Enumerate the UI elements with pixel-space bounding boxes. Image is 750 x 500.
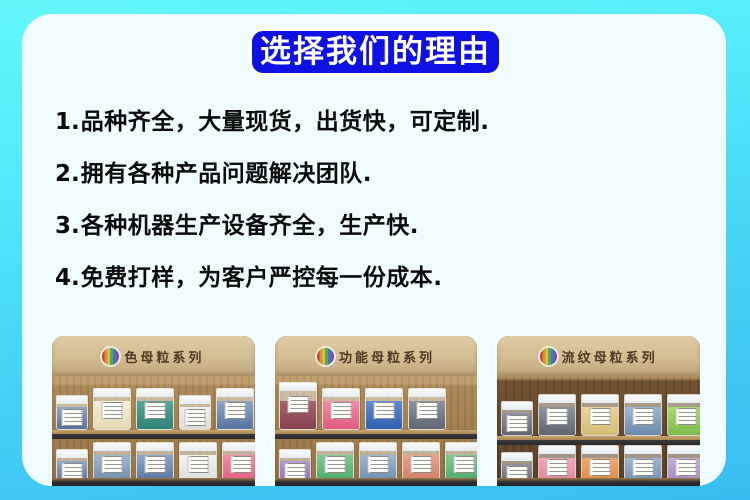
title-banner: 选择我们的理由 <box>249 28 502 76</box>
box-lid <box>316 443 354 451</box>
shelf-sign: 流纹母粒系列 <box>497 336 700 376</box>
sample-box <box>322 388 360 430</box>
sample-box <box>56 395 88 430</box>
box-lid <box>445 443 478 451</box>
box-lid <box>279 450 311 458</box>
product-photo-3: 流纹母粒系列 <box>497 336 700 486</box>
list-item-number: 1. <box>55 109 80 135</box>
shelf-sign-label: 流纹母粒系列 <box>562 347 658 366</box>
box-lid <box>56 450 88 458</box>
box-lid <box>408 389 446 397</box>
shelf-sign-label: 功能母粒系列 <box>339 347 435 366</box>
box-label <box>416 402 437 419</box>
rainbow-stripe-logo-icon <box>317 348 334 365</box>
box-lid <box>581 446 619 454</box>
box-lid <box>216 389 254 397</box>
shelf-board <box>497 436 700 445</box>
box-label <box>633 408 654 425</box>
box-lid <box>667 395 700 403</box>
box-lid <box>56 396 88 404</box>
list-item-text: 品种齐全，大量现货，出货快，可定制. <box>81 102 490 136</box>
box-lid <box>365 389 403 397</box>
shelf-sign: 功能母粒系列 <box>275 336 478 376</box>
box-label <box>676 408 697 425</box>
sample-box <box>667 394 700 436</box>
box-lid <box>93 389 131 397</box>
box-lid <box>93 443 131 451</box>
box-lid <box>624 395 662 403</box>
shelf-sign-label: 色母粒系列 <box>124 347 204 366</box>
box-label <box>102 456 123 473</box>
list-item-text: 各种机器生产设备齐全，生产快. <box>81 206 419 240</box>
box-label <box>324 456 345 473</box>
box-label <box>225 402 246 419</box>
box-label <box>547 459 568 476</box>
sample-box <box>179 395 211 430</box>
box-label <box>590 408 611 425</box>
list-item-number: 3. <box>55 213 80 239</box>
box-lid <box>136 443 174 451</box>
box-label <box>102 402 123 419</box>
sample-box <box>581 394 619 436</box>
box-lid <box>179 396 211 404</box>
box-lid <box>581 395 619 403</box>
product-photo-1: 色母粒系列 <box>52 336 255 486</box>
sample-box <box>538 394 576 436</box>
box-label <box>633 459 654 476</box>
product-photo-2: 功能母粒系列 <box>275 336 478 486</box>
box-label <box>590 459 611 476</box>
reasons-list: 1. 品种齐全，大量现货，出货快，可定制. 2. 拥有各种产品问题解决团队. 3… <box>55 102 695 310</box>
box-label <box>231 456 252 473</box>
shelf-board <box>275 478 478 486</box>
sample-box-row-top <box>501 382 696 436</box>
box-label <box>185 409 206 426</box>
sample-box <box>624 394 662 436</box>
box-lid <box>136 389 174 397</box>
list-item: 1. 品种齐全，大量现货，出货快，可定制. <box>55 102 695 154</box>
box-lid <box>538 395 576 403</box>
sample-box <box>501 401 533 436</box>
box-lid <box>359 443 397 451</box>
sample-box <box>365 388 403 430</box>
shelf-board <box>275 430 478 439</box>
sample-box <box>279 382 317 430</box>
box-lid <box>322 389 360 397</box>
list-item-text: 免费打样，为客户严控每一份成本. <box>81 258 443 292</box>
box-label <box>410 456 431 473</box>
box-lid <box>624 446 662 454</box>
box-label <box>373 402 394 419</box>
box-label <box>547 408 568 425</box>
box-label <box>367 456 388 473</box>
sample-box <box>408 388 446 430</box>
box-label <box>287 396 308 413</box>
list-item-number: 2. <box>55 161 80 187</box>
rainbow-stripe-logo-icon <box>102 348 119 365</box>
rainbow-stripe-logo-icon <box>540 348 557 365</box>
sample-box <box>136 388 174 430</box>
box-lid <box>279 383 317 391</box>
box-lid <box>402 443 440 451</box>
list-item: 3. 各种机器生产设备齐全，生产快. <box>55 206 695 258</box>
product-photo-strip: 色母粒系列 <box>52 336 700 486</box>
list-item-number: 4. <box>55 265 80 291</box>
page-title: 选择我们的理由 <box>260 37 491 68</box>
sample-box-row-top <box>279 378 474 430</box>
box-label <box>145 456 166 473</box>
box-lid <box>179 443 217 451</box>
shelf-sign: 色母粒系列 <box>52 336 255 376</box>
box-label <box>145 402 166 419</box>
shelf-board <box>52 478 255 486</box>
sample-box <box>216 388 254 430</box>
poster-canvas: 选择我们的理由 1. 品种齐全，大量现货，出货快，可定制. 2. 拥有各种产品问… <box>0 0 750 500</box>
box-label <box>676 459 697 476</box>
box-label <box>330 402 351 419</box>
box-lid <box>222 443 255 451</box>
shelf-board <box>52 430 255 439</box>
box-lid <box>501 402 533 410</box>
sample-box-row-top <box>56 378 251 430</box>
box-lid <box>538 446 576 454</box>
list-item: 4. 免费打样，为客户严控每一份成本. <box>55 258 695 310</box>
list-item-text: 拥有各种产品问题解决团队. <box>81 154 372 188</box>
shelf-board <box>497 478 700 486</box>
box-label <box>188 456 209 473</box>
list-item: 2. 拥有各种产品问题解决团队. <box>55 154 695 206</box>
box-label <box>507 415 528 432</box>
box-lid <box>501 453 533 461</box>
box-label <box>453 456 474 473</box>
box-label <box>62 409 83 426</box>
content-card: 选择我们的理由 1. 品种齐全，大量现货，出货快，可定制. 2. 拥有各种产品问… <box>22 14 726 486</box>
sample-box <box>93 388 131 430</box>
box-lid <box>667 446 700 454</box>
